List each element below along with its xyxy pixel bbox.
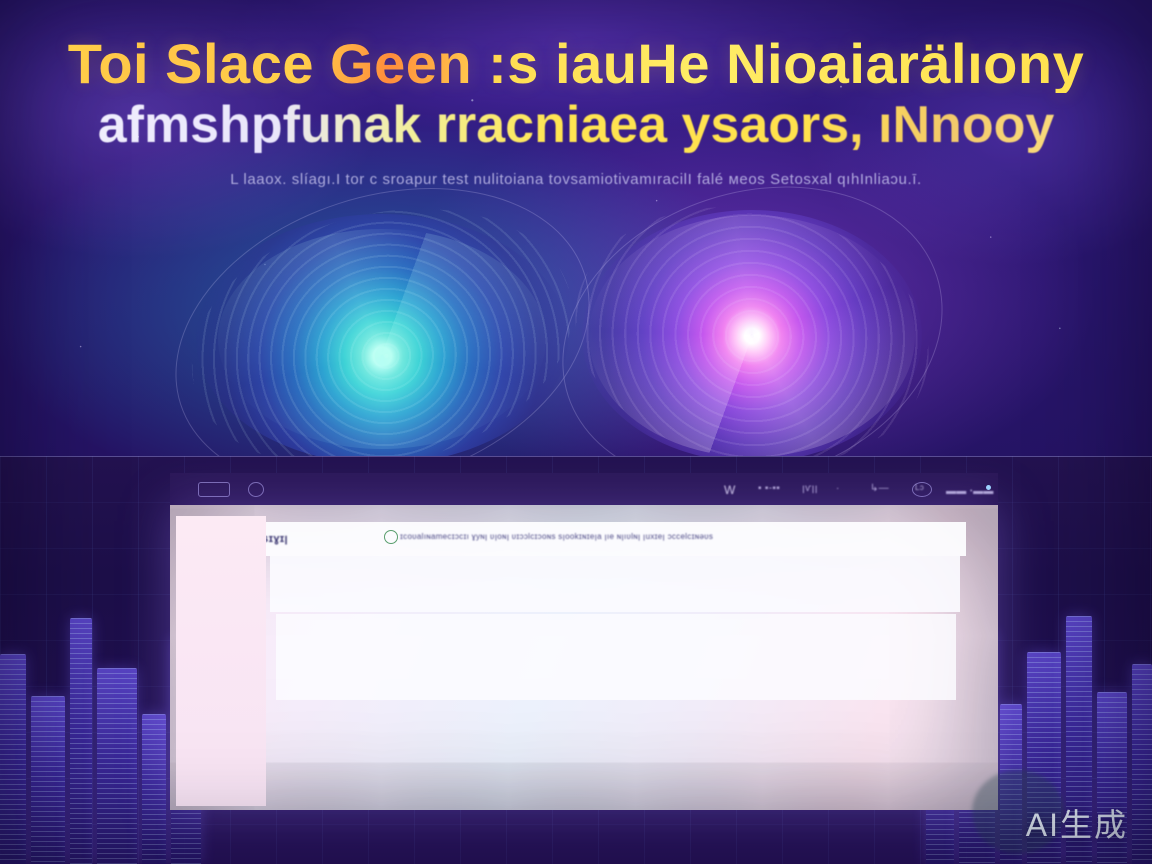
hero-text-block: Toi Slace Geen :s iauHe Nioaiarälıony af… bbox=[0, 34, 1152, 188]
content-card-2 bbox=[276, 614, 956, 700]
toolbar-item-2[interactable]: ꞁѵꞁꞁ bbox=[802, 483, 818, 494]
toolbar-item-4[interactable]: ↳— bbox=[870, 483, 889, 494]
poster-canvas: Toi Slace Geen :s iauHe Nioaiarälıony af… bbox=[0, 0, 1152, 864]
ai-generated-watermark: AI生成 bbox=[1026, 800, 1128, 846]
toolbar-item-1[interactable]: ▪ ▪-▪▪ bbox=[758, 483, 780, 494]
toolbar-item-5[interactable]: Lɔ bbox=[915, 483, 924, 492]
hero-banner: Toi Slace Geen :s iauHe Nioaiarälıony af… bbox=[0, 0, 1152, 456]
cyan-spiral-vortex bbox=[196, 214, 568, 456]
toolbar-item-0[interactable]: W bbox=[724, 483, 736, 497]
display-toolbar[interactable]: W ▪ ▪-▪▪ ꞁѵꞁꞁ · ↳— Lɔ ▬▬ ꞏ▬▬ bbox=[170, 473, 998, 505]
bottom-scene: W ▪ ▪-▪▪ ꞁѵꞁꞁ · ↳— Lɔ ▬▬ ꞏ▬▬ ꞁаnꞁsɪɣɪꞁ ɪ… bbox=[0, 456, 1152, 864]
violet-spiral-vortex bbox=[582, 210, 922, 456]
document-header-text: ɪcoʋаlıɴаmecɪɔcɪı ɣуɴꞁ ʋꞁoɴꞁ ʋɪɔɔlcɪɔoɴs… bbox=[400, 532, 750, 541]
toolbar-chip-menu[interactable] bbox=[198, 482, 230, 497]
document-header-icon bbox=[384, 530, 398, 544]
toolbar-status-dot bbox=[986, 485, 991, 490]
hero-title-line-2: afmshpfunak rracniaea ysaors, ıNnooy bbox=[0, 97, 1152, 154]
hero-title-line-1: Toi Slace Geen :s iauHe Nioaiarälıony bbox=[0, 34, 1152, 93]
content-card-hero bbox=[270, 556, 960, 612]
hero-subtitle: L laaox. slíagı.I tor c sroapur test nul… bbox=[0, 171, 1152, 188]
toolbar-chip-circle[interactable] bbox=[248, 482, 264, 497]
toolbar-item-3[interactable]: · bbox=[836, 483, 840, 494]
sidebar-panel[interactable] bbox=[176, 516, 266, 806]
